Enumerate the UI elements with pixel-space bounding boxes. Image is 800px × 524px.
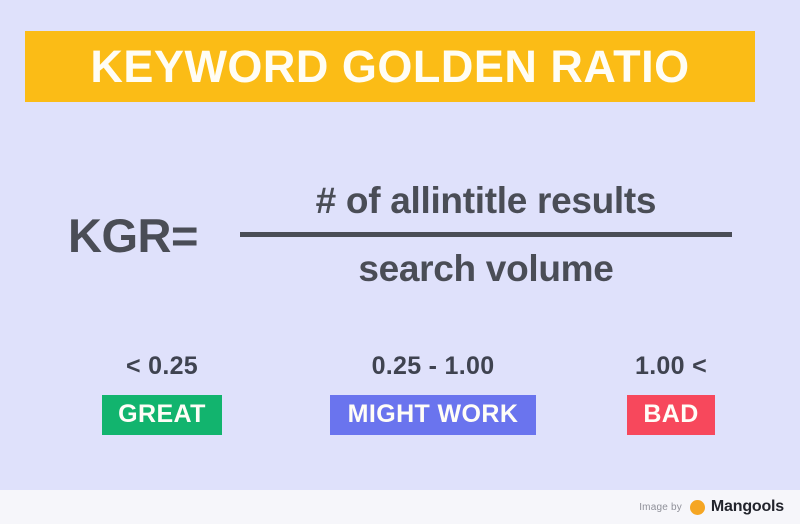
header-banner: KEYWORD GOLDEN RATIO	[25, 31, 755, 102]
fraction-bar	[240, 232, 732, 237]
infographic-canvas: KEYWORD GOLDEN RATIO KGR= # of allintitl…	[0, 0, 800, 524]
fraction-numerator: # of allintitle results	[316, 180, 657, 222]
status-badge-might-work: MIGHT WORK	[330, 395, 537, 435]
kgr-formula: KGR= # of allintitle results search volu…	[0, 160, 800, 310]
status-badge-great: GREAT	[102, 395, 222, 435]
range-legend: < 0.25 GREAT 0.25 - 1.00 MIGHT WORK 1.00…	[0, 352, 800, 435]
formula-fraction: # of allintitle results search volume	[240, 180, 732, 290]
footer-brand-name: Mangools	[711, 498, 784, 516]
formula-left-hand-side: KGR=	[68, 208, 198, 263]
range-group-great: < 0.25 GREAT	[29, 352, 295, 435]
range-group-might-work: 0.25 - 1.00 MIGHT WORK	[295, 352, 571, 435]
fraction-denominator: search volume	[358, 248, 613, 290]
range-value-great: < 0.25	[126, 352, 198, 381]
range-group-bad: 1.00 < BAD	[571, 352, 771, 435]
range-value-might-work: 0.25 - 1.00	[372, 352, 495, 381]
footer-attribution: Image by Mangools	[0, 490, 800, 524]
footer-credit-label: Image by	[639, 502, 682, 513]
mango-circle-icon	[690, 500, 705, 515]
status-badge-bad: BAD	[627, 395, 714, 435]
page-title: KEYWORD GOLDEN RATIO	[90, 44, 689, 89]
range-value-bad: 1.00 <	[635, 352, 707, 381]
